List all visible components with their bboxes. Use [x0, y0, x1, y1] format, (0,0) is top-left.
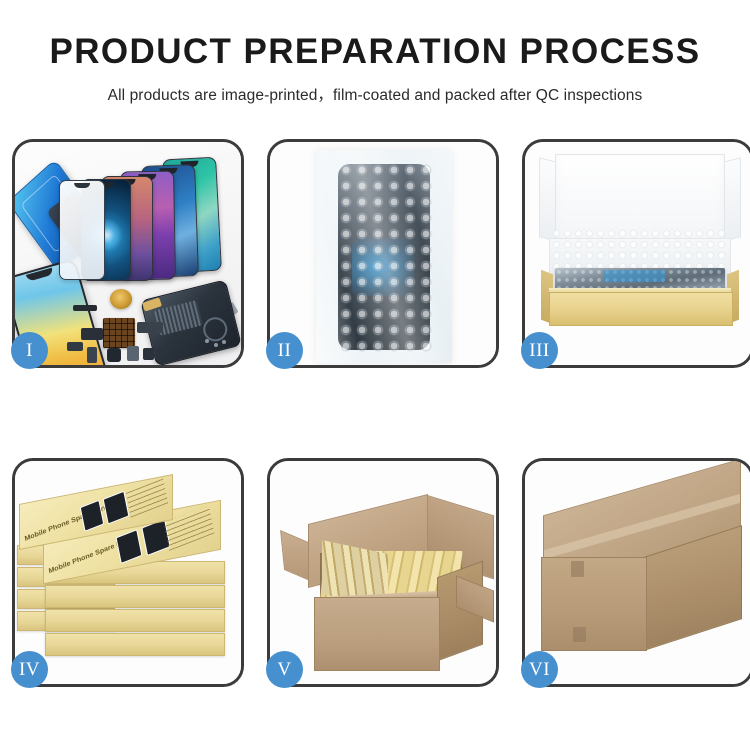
- tempered-glass-icon: [59, 180, 105, 280]
- box-screen-image-icon: [116, 529, 143, 564]
- page-header: PRODUCT PREPARATION PROCESS All products…: [0, 0, 750, 105]
- box-screen-image-icon: [103, 491, 130, 525]
- step-badge-4: IV: [11, 651, 48, 688]
- small-part-icon: [81, 328, 103, 340]
- step-image-5: [270, 461, 496, 684]
- step-badge-1: I: [11, 332, 48, 369]
- step-panel-1: I: [12, 139, 244, 368]
- phone-screen-fan: [73, 158, 241, 278]
- sensor-part-icon: [143, 348, 154, 360]
- bracket-part-icon: [67, 342, 83, 351]
- carton-tab-lower-icon: [573, 627, 586, 642]
- speaker-coil-icon: [110, 289, 132, 309]
- retail-box-icon: [45, 585, 225, 608]
- button-part-icon: [127, 346, 139, 361]
- step-badge-6: VI: [521, 651, 558, 688]
- step-image-1: [15, 142, 241, 365]
- carton-front-panel-icon: [314, 597, 440, 671]
- step-image-6: [525, 461, 750, 684]
- sealed-carton-front-panel-icon: [541, 557, 647, 651]
- flex-cable-part-icon: [73, 305, 97, 311]
- box-screen-image-icon: [80, 500, 105, 532]
- carton-tab-upper-icon: [571, 561, 584, 577]
- step-panel-5: V: [267, 458, 499, 687]
- step-panel-6: VI: [522, 458, 750, 687]
- plastic-gloss-overlay: [316, 150, 452, 363]
- screws-icon: [205, 339, 227, 349]
- page-subtitle: All products are image-printed，film-coat…: [0, 83, 750, 105]
- retail-box-stack: Mobile Phone Spare Parts Mobile Phone Sp…: [15, 461, 241, 684]
- step-badge-5: V: [266, 651, 303, 688]
- box-spec-lines-icon: [126, 479, 168, 518]
- step-panel-4: Mobile Phone Spare Parts Mobile Phone Sp…: [12, 458, 244, 687]
- chip-grid-icon: [103, 318, 135, 348]
- retail-box-icon: [45, 609, 225, 632]
- process-steps-grid: I II III: [12, 139, 738, 687]
- step-image-2: [270, 142, 496, 365]
- step-image-3: [525, 142, 750, 365]
- retail-box-icon: [45, 633, 225, 656]
- mailer-front-panel-icon: [549, 292, 733, 326]
- step-panel-3: III: [522, 139, 750, 368]
- step-badge-2: II: [266, 332, 303, 369]
- sim-tray-part-icon: [87, 347, 97, 363]
- page-title: PRODUCT PREPARATION PROCESS: [0, 34, 750, 71]
- camera-module-part-icon: [137, 322, 163, 333]
- step-badge-3: III: [521, 332, 558, 369]
- vibrator-part-icon: [107, 348, 121, 362]
- step-panel-2: II: [267, 139, 499, 368]
- step-image-4: Mobile Phone Spare Parts Mobile Phone Sp…: [15, 461, 241, 684]
